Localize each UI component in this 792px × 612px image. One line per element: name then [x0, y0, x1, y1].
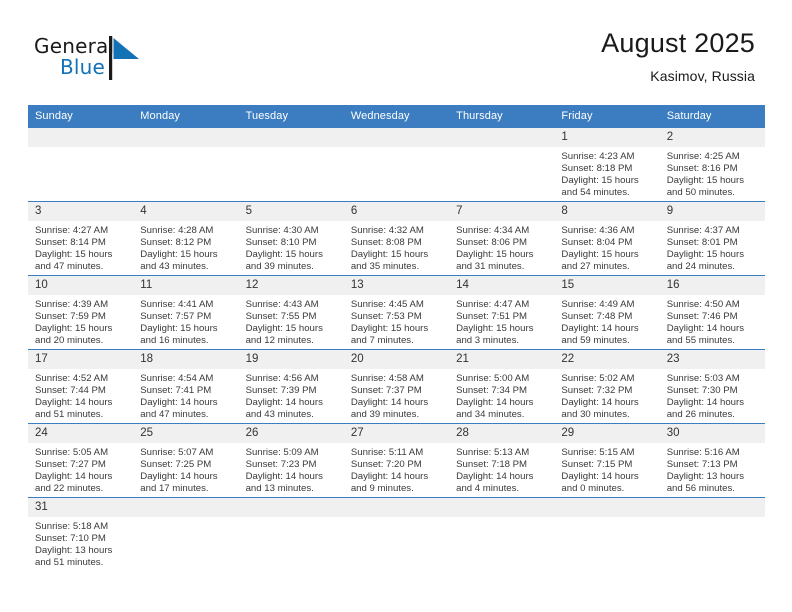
day-number: 25 — [133, 424, 238, 443]
day-details: Sunrise: 4:36 AMSunset: 8:04 PMDaylight:… — [554, 221, 659, 273]
sunset-time: Sunset: 7:25 PM — [140, 459, 232, 471]
page-header: General Blue August 2025 Kasimov, Russia — [28, 26, 765, 100]
sunrise-time: Sunrise: 4:37 AM — [667, 225, 759, 237]
day-number: 30 — [660, 424, 765, 443]
sunset-time: Sunset: 7:59 PM — [35, 311, 127, 323]
day-number: 18 — [133, 350, 238, 369]
brand-logo[interactable]: General Blue — [34, 34, 214, 94]
sunset-time: Sunset: 7:34 PM — [456, 385, 548, 397]
day-details: Sunrise: 5:16 AMSunset: 7:13 PMDaylight:… — [660, 443, 765, 495]
calendar-day-cell[interactable]: 3Sunrise: 4:27 AMSunset: 8:14 PMDaylight… — [28, 202, 133, 276]
daylight-duration-line1: Daylight: 14 hours — [561, 397, 653, 409]
day-number — [239, 498, 344, 517]
sunrise-time: Sunrise: 5:05 AM — [35, 447, 127, 459]
day-number — [449, 128, 554, 147]
calendar-day-cell-empty — [449, 498, 554, 572]
day-details: Sunrise: 5:05 AMSunset: 7:27 PMDaylight:… — [28, 443, 133, 495]
sunset-time: Sunset: 8:04 PM — [561, 237, 653, 249]
sunset-time: Sunset: 7:30 PM — [667, 385, 759, 397]
calendar-day-cell[interactable]: 8Sunrise: 4:36 AMSunset: 8:04 PMDaylight… — [554, 202, 659, 276]
daylight-duration-line2: and 51 minutes. — [35, 557, 127, 569]
calendar-day-cell[interactable]: 28Sunrise: 5:13 AMSunset: 7:18 PMDayligh… — [449, 424, 554, 498]
calendar-day-cell-empty — [133, 498, 238, 572]
day-number: 5 — [239, 202, 344, 221]
sunset-time: Sunset: 8:16 PM — [667, 163, 759, 175]
day-details: Sunrise: 4:43 AMSunset: 7:55 PMDaylight:… — [239, 295, 344, 347]
sunrise-time: Sunrise: 4:28 AM — [140, 225, 232, 237]
sunset-time: Sunset: 7:48 PM — [561, 311, 653, 323]
daylight-duration-line1: Daylight: 15 hours — [140, 249, 232, 261]
sunrise-time: Sunrise: 5:07 AM — [140, 447, 232, 459]
weekday-header-thursday: Thursday — [449, 105, 554, 128]
sunrise-time: Sunrise: 4:52 AM — [35, 373, 127, 385]
sunset-time: Sunset: 8:06 PM — [456, 237, 548, 249]
day-number: 10 — [28, 276, 133, 295]
daylight-duration-line2: and 43 minutes. — [140, 261, 232, 273]
calendar-day-cell[interactable]: 26Sunrise: 5:09 AMSunset: 7:23 PMDayligh… — [239, 424, 344, 498]
day-details: Sunrise: 4:25 AMSunset: 8:16 PMDaylight:… — [660, 147, 765, 199]
daylight-duration-line2: and 16 minutes. — [140, 335, 232, 347]
calendar-day-cell-empty — [28, 128, 133, 202]
daylight-duration-line1: Daylight: 15 hours — [561, 249, 653, 261]
calendar-day-cell[interactable]: 11Sunrise: 4:41 AMSunset: 7:57 PMDayligh… — [133, 276, 238, 350]
day-details: Sunrise: 5:03 AMSunset: 7:30 PMDaylight:… — [660, 369, 765, 421]
day-number: 28 — [449, 424, 554, 443]
page-subtitle: Kasimov, Russia — [601, 66, 755, 86]
sunrise-time: Sunrise: 4:25 AM — [667, 151, 759, 163]
daylight-duration-line1: Daylight: 15 hours — [140, 323, 232, 335]
calendar-day-cell[interactable]: 5Sunrise: 4:30 AMSunset: 8:10 PMDaylight… — [239, 202, 344, 276]
day-number: 9 — [660, 202, 765, 221]
daylight-duration-line2: and 39 minutes. — [351, 409, 443, 421]
sunset-time: Sunset: 7:18 PM — [456, 459, 548, 471]
sunset-time: Sunset: 7:27 PM — [35, 459, 127, 471]
day-details: Sunrise: 5:13 AMSunset: 7:18 PMDaylight:… — [449, 443, 554, 495]
calendar-day-cell[interactable]: 30Sunrise: 5:16 AMSunset: 7:13 PMDayligh… — [660, 424, 765, 498]
weekday-header-sunday: Sunday — [28, 105, 133, 128]
daylight-duration-line1: Daylight: 15 hours — [246, 323, 338, 335]
sunrise-time: Sunrise: 4:45 AM — [351, 299, 443, 311]
daylight-duration-line1: Daylight: 14 hours — [351, 471, 443, 483]
day-number: 16 — [660, 276, 765, 295]
calendar-week-row: 3Sunrise: 4:27 AMSunset: 8:14 PMDaylight… — [28, 202, 765, 276]
daylight-duration-line1: Daylight: 14 hours — [561, 471, 653, 483]
sunrise-time: Sunrise: 4:23 AM — [561, 151, 653, 163]
calendar-day-cell[interactable]: 16Sunrise: 4:50 AMSunset: 7:46 PMDayligh… — [660, 276, 765, 350]
daylight-duration-line1: Daylight: 14 hours — [246, 397, 338, 409]
sunrise-time: Sunrise: 4:39 AM — [35, 299, 127, 311]
calendar-day-cell[interactable]: 20Sunrise: 4:58 AMSunset: 7:37 PMDayligh… — [344, 350, 449, 424]
daylight-duration-line2: and 39 minutes. — [246, 261, 338, 273]
day-number: 8 — [554, 202, 659, 221]
calendar-day-cell[interactable]: 7Sunrise: 4:34 AMSunset: 8:06 PMDaylight… — [449, 202, 554, 276]
day-details: Sunrise: 5:15 AMSunset: 7:15 PMDaylight:… — [554, 443, 659, 495]
weekday-header-friday: Friday — [554, 105, 659, 128]
weekday-header-tuesday: Tuesday — [239, 105, 344, 128]
daylight-duration-line1: Daylight: 14 hours — [246, 471, 338, 483]
day-number — [449, 498, 554, 517]
daylight-duration-line1: Daylight: 14 hours — [456, 471, 548, 483]
sunrise-time: Sunrise: 5:13 AM — [456, 447, 548, 459]
title-block: August 2025 Kasimov, Russia — [601, 26, 755, 86]
daylight-duration-line1: Daylight: 15 hours — [35, 249, 127, 261]
sunrise-time: Sunrise: 5:03 AM — [667, 373, 759, 385]
calendar-day-cell[interactable]: 6Sunrise: 4:32 AMSunset: 8:08 PMDaylight… — [344, 202, 449, 276]
daylight-duration-line2: and 59 minutes. — [561, 335, 653, 347]
daylight-duration-line2: and 20 minutes. — [35, 335, 127, 347]
day-number: 2 — [660, 128, 765, 147]
day-number — [660, 498, 765, 517]
sunrise-time: Sunrise: 4:30 AM — [246, 225, 338, 237]
daylight-duration-line1: Daylight: 14 hours — [35, 397, 127, 409]
daylight-duration-line1: Daylight: 13 hours — [667, 471, 759, 483]
sunset-time: Sunset: 7:51 PM — [456, 311, 548, 323]
daylight-duration-line2: and 24 minutes. — [667, 261, 759, 273]
sunset-time: Sunset: 8:14 PM — [35, 237, 127, 249]
calendar-day-cell-empty — [449, 128, 554, 202]
day-details: Sunrise: 4:50 AMSunset: 7:46 PMDaylight:… — [660, 295, 765, 347]
daylight-duration-line2: and 47 minutes. — [140, 409, 232, 421]
daylight-duration-line1: Daylight: 13 hours — [35, 545, 127, 557]
calendar-day-cell[interactable]: 9Sunrise: 4:37 AMSunset: 8:01 PMDaylight… — [660, 202, 765, 276]
calendar-week-row: 24Sunrise: 5:05 AMSunset: 7:27 PMDayligh… — [28, 424, 765, 498]
day-details: Sunrise: 5:09 AMSunset: 7:23 PMDaylight:… — [239, 443, 344, 495]
daylight-duration-line1: Daylight: 14 hours — [140, 471, 232, 483]
sunrise-time: Sunrise: 4:49 AM — [561, 299, 653, 311]
day-details: Sunrise: 4:58 AMSunset: 7:37 PMDaylight:… — [344, 369, 449, 421]
sunrise-time: Sunrise: 5:15 AM — [561, 447, 653, 459]
sunset-time: Sunset: 8:12 PM — [140, 237, 232, 249]
day-details: Sunrise: 4:30 AMSunset: 8:10 PMDaylight:… — [239, 221, 344, 273]
calendar-page: General Blue August 2025 Kasimov, Russia… — [0, 0, 792, 612]
day-number — [344, 128, 449, 147]
day-number: 7 — [449, 202, 554, 221]
calendar-day-cell-empty — [344, 498, 449, 572]
calendar-day-cell-empty — [554, 498, 659, 572]
daylight-duration-line1: Daylight: 14 hours — [35, 471, 127, 483]
sunrise-time: Sunrise: 4:54 AM — [140, 373, 232, 385]
brand-name-secondary: Blue — [60, 55, 105, 79]
triangle-flag-icon — [109, 36, 141, 80]
day-number — [554, 498, 659, 517]
calendar-day-cell[interactable]: 31Sunrise: 5:18 AMSunset: 7:10 PMDayligh… — [28, 498, 133, 572]
daylight-duration-line1: Daylight: 15 hours — [667, 175, 759, 187]
daylight-duration-line1: Daylight: 14 hours — [140, 397, 232, 409]
sunrise-time: Sunrise: 4:58 AM — [351, 373, 443, 385]
sunset-time: Sunset: 8:18 PM — [561, 163, 653, 175]
sunset-time: Sunset: 8:10 PM — [246, 237, 338, 249]
day-number: 17 — [28, 350, 133, 369]
daylight-duration-line1: Daylight: 15 hours — [351, 249, 443, 261]
calendar-day-cell[interactable]: 23Sunrise: 5:03 AMSunset: 7:30 PMDayligh… — [660, 350, 765, 424]
day-number: 3 — [28, 202, 133, 221]
calendar-day-cell[interactable]: 10Sunrise: 4:39 AMSunset: 7:59 PMDayligh… — [28, 276, 133, 350]
calendar-week-row: 10Sunrise: 4:39 AMSunset: 7:59 PMDayligh… — [28, 276, 765, 350]
sunset-time: Sunset: 7:53 PM — [351, 311, 443, 323]
day-number: 4 — [133, 202, 238, 221]
sunset-time: Sunset: 8:08 PM — [351, 237, 443, 249]
sunset-time: Sunset: 7:44 PM — [35, 385, 127, 397]
sunset-time: Sunset: 7:20 PM — [351, 459, 443, 471]
day-number: 23 — [660, 350, 765, 369]
day-details: Sunrise: 4:23 AMSunset: 8:18 PMDaylight:… — [554, 147, 659, 199]
calendar-week-row: 1Sunrise: 4:23 AMSunset: 8:18 PMDaylight… — [28, 128, 765, 202]
day-details: Sunrise: 4:32 AMSunset: 8:08 PMDaylight:… — [344, 221, 449, 273]
sunrise-time: Sunrise: 4:34 AM — [456, 225, 548, 237]
weekday-header-monday: Monday — [133, 105, 238, 128]
day-details: Sunrise: 4:49 AMSunset: 7:48 PMDaylight:… — [554, 295, 659, 347]
day-details: Sunrise: 5:07 AMSunset: 7:25 PMDaylight:… — [133, 443, 238, 495]
sunrise-time: Sunrise: 4:36 AM — [561, 225, 653, 237]
day-number: 29 — [554, 424, 659, 443]
sunset-time: Sunset: 7:46 PM — [667, 311, 759, 323]
calendar-day-cell-empty — [239, 128, 344, 202]
calendar-day-cell[interactable]: 4Sunrise: 4:28 AMSunset: 8:12 PMDaylight… — [133, 202, 238, 276]
calendar-day-cell[interactable]: 19Sunrise: 4:56 AMSunset: 7:39 PMDayligh… — [239, 350, 344, 424]
daylight-duration-line1: Daylight: 15 hours — [246, 249, 338, 261]
calendar-header-row: Sunday Monday Tuesday Wednesday Thursday… — [28, 105, 765, 128]
daylight-duration-line2: and 54 minutes. — [561, 187, 653, 199]
daylight-duration-line1: Daylight: 15 hours — [35, 323, 127, 335]
sunrise-time: Sunrise: 4:41 AM — [140, 299, 232, 311]
sunset-time: Sunset: 7:13 PM — [667, 459, 759, 471]
sunset-time: Sunset: 7:10 PM — [35, 533, 127, 545]
calendar-day-cell-empty — [344, 128, 449, 202]
sunrise-time: Sunrise: 4:56 AM — [246, 373, 338, 385]
day-details: Sunrise: 4:52 AMSunset: 7:44 PMDaylight:… — [28, 369, 133, 421]
calendar-day-cell-empty — [239, 498, 344, 572]
daylight-duration-line2: and 13 minutes. — [246, 483, 338, 495]
day-number: 31 — [28, 498, 133, 517]
sunrise-time: Sunrise: 5:09 AM — [246, 447, 338, 459]
daylight-duration-line2: and 27 minutes. — [561, 261, 653, 273]
sunrise-time: Sunrise: 4:50 AM — [667, 299, 759, 311]
daylight-duration-line2: and 22 minutes. — [35, 483, 127, 495]
calendar-day-cell-empty — [660, 498, 765, 572]
daylight-duration-line2: and 30 minutes. — [561, 409, 653, 421]
calendar-week-row: 17Sunrise: 4:52 AMSunset: 7:44 PMDayligh… — [28, 350, 765, 424]
daylight-duration-line2: and 3 minutes. — [456, 335, 548, 347]
daylight-duration-line2: and 50 minutes. — [667, 187, 759, 199]
day-details: Sunrise: 4:54 AMSunset: 7:41 PMDaylight:… — [133, 369, 238, 421]
sunrise-time: Sunrise: 5:16 AM — [667, 447, 759, 459]
calendar-day-cell[interactable]: 1Sunrise: 4:23 AMSunset: 8:18 PMDaylight… — [554, 128, 659, 202]
daylight-duration-line2: and 47 minutes. — [35, 261, 127, 273]
day-number — [239, 128, 344, 147]
day-number — [344, 498, 449, 517]
calendar-table: Sunday Monday Tuesday Wednesday Thursday… — [28, 105, 765, 572]
sunset-time: Sunset: 7:57 PM — [140, 311, 232, 323]
weekday-header-saturday: Saturday — [660, 105, 765, 128]
sunset-time: Sunset: 8:01 PM — [667, 237, 759, 249]
calendar-day-cell[interactable]: 14Sunrise: 4:47 AMSunset: 7:51 PMDayligh… — [449, 276, 554, 350]
sunset-time: Sunset: 7:32 PM — [561, 385, 653, 397]
daylight-duration-line2: and 34 minutes. — [456, 409, 548, 421]
calendar-day-cell[interactable]: 29Sunrise: 5:15 AMSunset: 7:15 PMDayligh… — [554, 424, 659, 498]
sunset-time: Sunset: 7:41 PM — [140, 385, 232, 397]
day-number: 26 — [239, 424, 344, 443]
day-number: 20 — [344, 350, 449, 369]
calendar-body: 1Sunrise: 4:23 AMSunset: 8:18 PMDaylight… — [28, 128, 765, 572]
calendar-day-cell[interactable]: 2Sunrise: 4:25 AMSunset: 8:16 PMDaylight… — [660, 128, 765, 202]
daylight-duration-line1: Daylight: 14 hours — [456, 397, 548, 409]
day-number: 12 — [239, 276, 344, 295]
daylight-duration-line2: and 56 minutes. — [667, 483, 759, 495]
day-details: Sunrise: 4:41 AMSunset: 7:57 PMDaylight:… — [133, 295, 238, 347]
calendar-day-cell[interactable]: 21Sunrise: 5:00 AMSunset: 7:34 PMDayligh… — [449, 350, 554, 424]
day-number: 21 — [449, 350, 554, 369]
sunrise-time: Sunrise: 5:11 AM — [351, 447, 443, 459]
daylight-duration-line2: and 9 minutes. — [351, 483, 443, 495]
daylight-duration-line1: Daylight: 14 hours — [561, 323, 653, 335]
day-details: Sunrise: 5:11 AMSunset: 7:20 PMDaylight:… — [344, 443, 449, 495]
daylight-duration-line1: Daylight: 15 hours — [351, 323, 443, 335]
day-number: 1 — [554, 128, 659, 147]
sunrise-time: Sunrise: 4:27 AM — [35, 225, 127, 237]
daylight-duration-line1: Daylight: 15 hours — [667, 249, 759, 261]
sunrise-time: Sunrise: 4:43 AM — [246, 299, 338, 311]
daylight-duration-line2: and 4 minutes. — [456, 483, 548, 495]
day-number: 14 — [449, 276, 554, 295]
daylight-duration-line2: and 7 minutes. — [351, 335, 443, 347]
day-number: 11 — [133, 276, 238, 295]
day-number: 6 — [344, 202, 449, 221]
sunrise-time: Sunrise: 5:00 AM — [456, 373, 548, 385]
daylight-duration-line1: Daylight: 14 hours — [667, 397, 759, 409]
page-title: August 2025 — [601, 26, 755, 60]
sunset-time: Sunset: 7:15 PM — [561, 459, 653, 471]
calendar-day-cell[interactable]: 15Sunrise: 4:49 AMSunset: 7:48 PMDayligh… — [554, 276, 659, 350]
day-details: Sunrise: 4:47 AMSunset: 7:51 PMDaylight:… — [449, 295, 554, 347]
calendar-day-cell[interactable]: 24Sunrise: 5:05 AMSunset: 7:27 PMDayligh… — [28, 424, 133, 498]
day-number: 15 — [554, 276, 659, 295]
calendar-day-cell[interactable]: 25Sunrise: 5:07 AMSunset: 7:25 PMDayligh… — [133, 424, 238, 498]
daylight-duration-line2: and 26 minutes. — [667, 409, 759, 421]
day-details: Sunrise: 5:00 AMSunset: 7:34 PMDaylight:… — [449, 369, 554, 421]
daylight-duration-line2: and 55 minutes. — [667, 335, 759, 347]
sunset-time: Sunset: 7:37 PM — [351, 385, 443, 397]
day-number — [133, 498, 238, 517]
day-number: 19 — [239, 350, 344, 369]
sunrise-time: Sunrise: 4:47 AM — [456, 299, 548, 311]
day-number: 13 — [344, 276, 449, 295]
daylight-duration-line2: and 12 minutes. — [246, 335, 338, 347]
sunrise-time: Sunrise: 4:32 AM — [351, 225, 443, 237]
calendar-day-cell[interactable]: 18Sunrise: 4:54 AMSunset: 7:41 PMDayligh… — [133, 350, 238, 424]
daylight-duration-line1: Daylight: 15 hours — [456, 323, 548, 335]
day-details: Sunrise: 5:18 AMSunset: 7:10 PMDaylight:… — [28, 517, 133, 569]
day-details: Sunrise: 4:34 AMSunset: 8:06 PMDaylight:… — [449, 221, 554, 273]
calendar-day-cell[interactable]: 12Sunrise: 4:43 AMSunset: 7:55 PMDayligh… — [239, 276, 344, 350]
day-details: Sunrise: 4:56 AMSunset: 7:39 PMDaylight:… — [239, 369, 344, 421]
day-number: 22 — [554, 350, 659, 369]
daylight-duration-line2: and 43 minutes. — [246, 409, 338, 421]
daylight-duration-line1: Daylight: 15 hours — [561, 175, 653, 187]
daylight-duration-line2: and 17 minutes. — [140, 483, 232, 495]
day-details: Sunrise: 4:37 AMSunset: 8:01 PMDaylight:… — [660, 221, 765, 273]
day-details: Sunrise: 4:28 AMSunset: 8:12 PMDaylight:… — [133, 221, 238, 273]
daylight-duration-line1: Daylight: 14 hours — [667, 323, 759, 335]
daylight-duration-line1: Daylight: 15 hours — [456, 249, 548, 261]
sunrise-time: Sunrise: 5:02 AM — [561, 373, 653, 385]
day-details: Sunrise: 5:02 AMSunset: 7:32 PMDaylight:… — [554, 369, 659, 421]
weekday-header-wednesday: Wednesday — [344, 105, 449, 128]
day-number: 24 — [28, 424, 133, 443]
calendar-day-cell[interactable]: 13Sunrise: 4:45 AMSunset: 7:53 PMDayligh… — [344, 276, 449, 350]
calendar-day-cell[interactable]: 22Sunrise: 5:02 AMSunset: 7:32 PMDayligh… — [554, 350, 659, 424]
day-details: Sunrise: 4:27 AMSunset: 8:14 PMDaylight:… — [28, 221, 133, 273]
day-details: Sunrise: 4:45 AMSunset: 7:53 PMDaylight:… — [344, 295, 449, 347]
daylight-duration-line2: and 0 minutes. — [561, 483, 653, 495]
daylight-duration-line2: and 35 minutes. — [351, 261, 443, 273]
day-number: 27 — [344, 424, 449, 443]
day-number — [133, 128, 238, 147]
calendar-day-cell-empty — [133, 128, 238, 202]
sunset-time: Sunset: 7:39 PM — [246, 385, 338, 397]
sunset-time: Sunset: 7:23 PM — [246, 459, 338, 471]
daylight-duration-line2: and 51 minutes. — [35, 409, 127, 421]
daylight-duration-line1: Daylight: 14 hours — [351, 397, 443, 409]
sunset-time: Sunset: 7:55 PM — [246, 311, 338, 323]
calendar-day-cell[interactable]: 17Sunrise: 4:52 AMSunset: 7:44 PMDayligh… — [28, 350, 133, 424]
daylight-duration-line2: and 31 minutes. — [456, 261, 548, 273]
day-details: Sunrise: 4:39 AMSunset: 7:59 PMDaylight:… — [28, 295, 133, 347]
day-number — [28, 128, 133, 147]
calendar-week-row: 31Sunrise: 5:18 AMSunset: 7:10 PMDayligh… — [28, 498, 765, 572]
calendar-day-cell[interactable]: 27Sunrise: 5:11 AMSunset: 7:20 PMDayligh… — [344, 424, 449, 498]
sunrise-time: Sunrise: 5:18 AM — [35, 521, 127, 533]
